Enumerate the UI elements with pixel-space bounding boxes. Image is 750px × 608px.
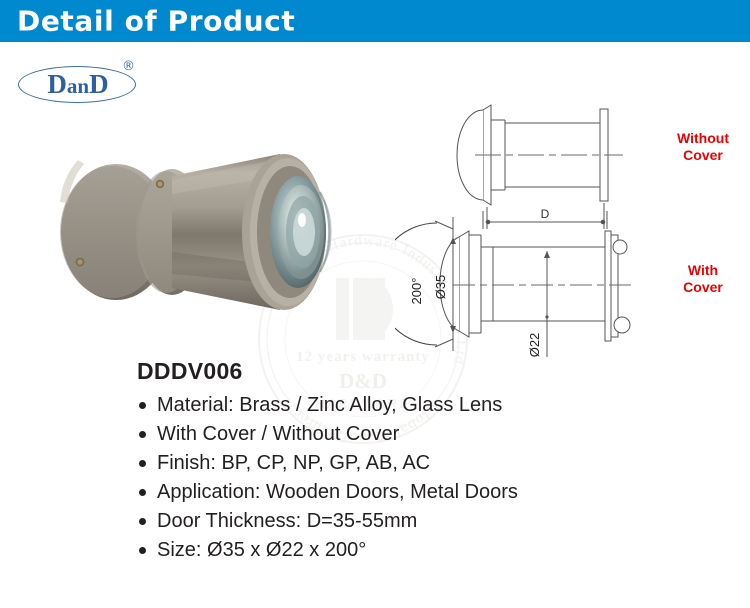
spec-text: With Cover / Without Cover xyxy=(157,423,399,445)
product-detail-page: Detail of Product DanD ® D&D Hardware In… xyxy=(0,0,750,608)
label-with-cover-line1: With xyxy=(664,262,742,279)
label-without-cover-line2: Cover xyxy=(664,147,742,164)
drawing-without-cover xyxy=(457,105,623,205)
label-with-cover-line2: Cover xyxy=(664,279,742,296)
list-item: Door Thickness: D=35-55mm xyxy=(137,507,697,536)
brand-logo: DanD ® xyxy=(18,57,158,103)
dimension-d35-label: Ø35 xyxy=(433,275,448,300)
product-specifications: DDDV006 Material: Brass / Zinc Alloy, Gl… xyxy=(137,358,697,565)
logo-wordmark: DanD xyxy=(28,70,128,101)
list-item: Size: Ø35 x Ø22 x 200° xyxy=(137,536,697,565)
bullet-icon xyxy=(139,489,146,496)
product-image xyxy=(52,132,362,332)
registered-trademark-icon: ® xyxy=(122,59,135,74)
bullet-icon xyxy=(139,547,146,554)
dimension-d22-label: Ø22 xyxy=(527,333,542,358)
logo-letter-d2: D xyxy=(89,69,109,99)
spec-text: Size: Ø35 x Ø22 x 200° xyxy=(157,539,366,561)
product-model-number: DDDV006 xyxy=(137,358,697,385)
bullet-icon xyxy=(139,431,146,438)
bullet-icon xyxy=(139,402,146,409)
bullet-icon xyxy=(139,518,146,525)
dimension-D: D xyxy=(486,203,605,229)
spec-text: Application: Wooden Doors, Metal Doors xyxy=(157,481,518,503)
spec-text: Material: Brass / Zinc Alloy, Glass Lens xyxy=(157,394,502,416)
label-without-cover: Without Cover xyxy=(664,130,742,164)
label-with-cover: With Cover xyxy=(664,262,742,296)
dimension-angle-label: 200° xyxy=(409,278,424,305)
spec-text: Door Thickness: D=35-55mm xyxy=(157,510,417,532)
dimension-d35: Ø35 xyxy=(433,237,456,333)
dimension-D-label: D xyxy=(541,207,550,221)
list-item: Application: Wooden Doors, Metal Doors xyxy=(137,478,697,507)
bullet-icon xyxy=(139,460,146,467)
label-without-cover-line1: Without xyxy=(664,130,742,147)
list-item: Finish: BP, CP, NP, GP, AB, AC xyxy=(137,449,697,478)
specification-list: Material: Brass / Zinc Alloy, Glass Lens… xyxy=(137,391,697,565)
list-item: Material: Brass / Zinc Alloy, Glass Lens xyxy=(137,391,697,420)
logo-letters-an: an xyxy=(67,74,89,98)
spec-text: Finish: BP, CP, NP, GP, AB, AC xyxy=(157,452,430,474)
logo-letter-d1: D xyxy=(47,69,67,99)
page-title: Detail of Product xyxy=(17,5,295,38)
page-header-banner: Detail of Product xyxy=(0,0,750,42)
list-item: With Cover / Without Cover xyxy=(137,420,697,449)
dimension-d22: Ø22 xyxy=(527,251,550,357)
drawing-with-cover: 200° xyxy=(395,211,635,357)
